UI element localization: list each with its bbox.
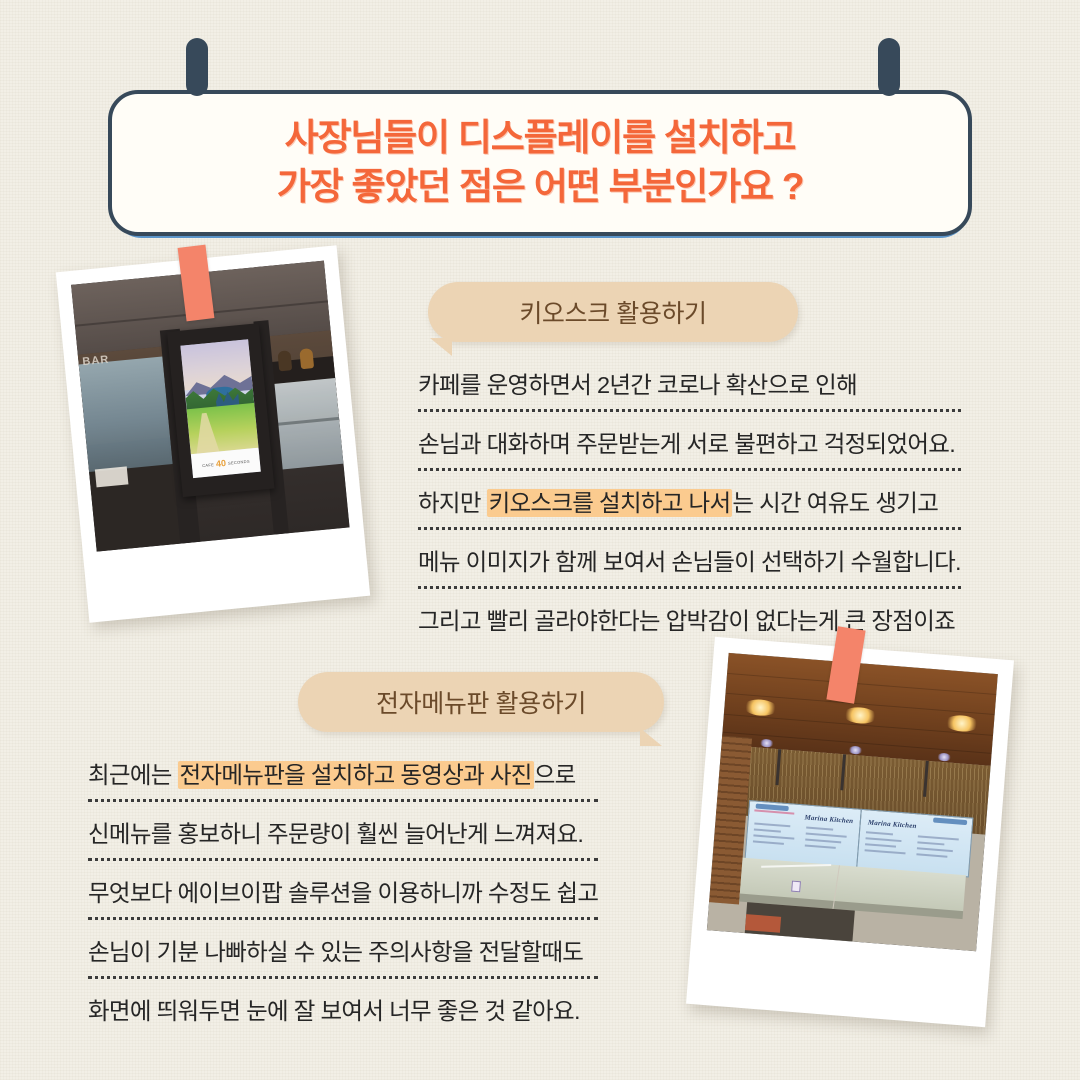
text-run: 메뉴 이미지가 함께 보여서 손님들이 선택하기 수월합니다. [418,549,961,575]
text-run: 그리고 빨리 골라야한다는 압박감이 없다는게 큰 장점이죠 [418,608,955,634]
paragraph-line: 손님이 기분 나빠하실 수 있는 주의사항을 전달할때도 [88,933,598,979]
kiosk-screen-brand-bar: CAFE 40 SECONDS [191,448,261,478]
page-title-line-1: 사장님들이 디스플레이를 설치하고 [277,114,804,163]
text-run: 카페를 운영하면서 2년간 코로나 확산으로 인해 [418,372,857,398]
cafe-wall-sign-label: BAR [82,354,110,369]
paragraph-line: 카페를 운영하면서 2년간 코로나 확산으로 인해 [418,366,961,412]
section-menu-bubble-label: 전자메뉴판 활용하기 [376,684,586,720]
cafe-figurine-icon [277,350,292,371]
banner-card: 사장님들이 디스플레이를 설치하고 가장 좋았던 점은 어떤 부분인가요 ? [108,90,972,236]
paragraph-line: 그리고 빨리 골라야한다는 압박감이 없다는게 큰 장점이죠 [418,602,961,645]
bubble-tail-icon [640,728,662,746]
storage-crate [745,914,781,933]
counter-notice-sign [791,881,801,893]
text-run: 손님이 기분 나빠하실 수 있는 주의사항을 전달할때도 [88,939,583,965]
menu-board-tab-icon [933,817,966,825]
cafe-left-counter [79,357,173,477]
highlighted-text: 전자메뉴판을 설치하고 동영상과 사진 [178,761,534,789]
text-run: 화면에 띄워두면 눈에 잘 보여서 너무 좋은 것 같아요. [88,998,580,1024]
text-run: 는 시간 여유도 생기고 [732,490,938,516]
menu-board-column [753,822,801,850]
text-run: 최근에는 [88,762,178,788]
kiosk-brand-cafe-label: CAFE [202,462,214,468]
paragraph-line: 최근에는 전자메뉴판을 설치하고 동영상과 사진으로 [88,756,598,802]
paragraph-line: 무엇보다 에이브이팝 솔루션을 이용하니까 수정도 쉽고 [88,874,598,920]
menu-board-accent-line [754,810,794,815]
kiosk-brand-number-label: 40 [216,459,227,469]
paragraph-line: 하지만 키오스크를 설치하고 나서는 시간 여유도 생기고 [418,484,961,530]
paragraph-line: 메뉴 이미지가 함께 보여서 손님들이 선택하기 수월합니다. [418,543,961,589]
section-menu-paragraph: 최근에는 전자메뉴판을 설치하고 동영상과 사진으로신메뉴를 홍보하니 주문량이… [88,756,598,1048]
banner-clip-right-icon [878,38,900,96]
kiosk-display-screen: CAFE 40 SECONDS [181,339,261,478]
text-run: 무엇보다 에이브이팝 솔루션을 이용하니까 수정도 쉽고 [88,880,598,906]
paragraph-line: 손님과 대화하며 주문받는게 서로 불편하고 걱정되었어요. [418,425,961,471]
poster-stage: 사장님들이 디스플레이를 설치하고 가장 좋았던 점은 어떤 부분인가요 ? B… [0,0,1080,1080]
menu-board-left-title: Marina Kitchen [804,813,853,825]
section-menu-bubble: 전자메뉴판 활용하기 [298,672,664,732]
cafe-kiosk-photo: BAR [56,245,370,622]
cafe-small-sign [95,466,129,487]
section-kiosk-paragraph: 카페를 운영하면서 2년간 코로나 확산으로 인해손님과 대화하며 주문받는게 … [418,366,961,658]
kiosk-display-frame: CAFE 40 SECONDS [167,323,274,497]
page-title-line-2: 가장 좋았던 점은 어떤 부분인가요 ? [277,163,804,212]
menu-board-right-title: Marina Kitchen [868,818,917,830]
banner-clip-left-icon [186,38,208,96]
highlighted-text: 키오스크를 설치하고 나서 [487,489,733,517]
text-run: 하지만 [418,490,487,516]
bubble-tail-icon [430,338,452,356]
section-kiosk-bubble-label: 키오스크 활용하기 [519,294,706,330]
menu-board-column [864,831,912,859]
page-title: 사장님들이 디스플레이를 설치하고 가장 좋았던 점은 어떤 부분인가요 ? [277,114,804,212]
text-run: 으로 [534,762,576,788]
menu-board-column [916,835,964,863]
paragraph-line: 신메뉴를 홍보하니 주문량이 훨씬 늘어난게 느껴져요. [88,815,598,861]
menu-board-column [804,826,852,854]
cafe-figurine-icon [299,348,314,369]
text-run: 손님과 대화하며 주문받는게 서로 불편하고 걱정되었어요. [418,431,955,457]
text-run: 신메뉴를 홍보하니 주문량이 훨씬 늘어난게 느껴져요. [88,821,583,847]
title-banner: 사장님들이 디스플레이를 설치하고 가장 좋았던 점은 어떤 부분인가요 ? [108,38,974,220]
section-kiosk-bubble: 키오스크 활용하기 [428,282,798,342]
paragraph-line: 화면에 띄워두면 눈에 잘 보여서 너무 좋은 것 같아요. [88,992,598,1035]
kiosk-brand-seconds-label: SECONDS [228,458,250,465]
